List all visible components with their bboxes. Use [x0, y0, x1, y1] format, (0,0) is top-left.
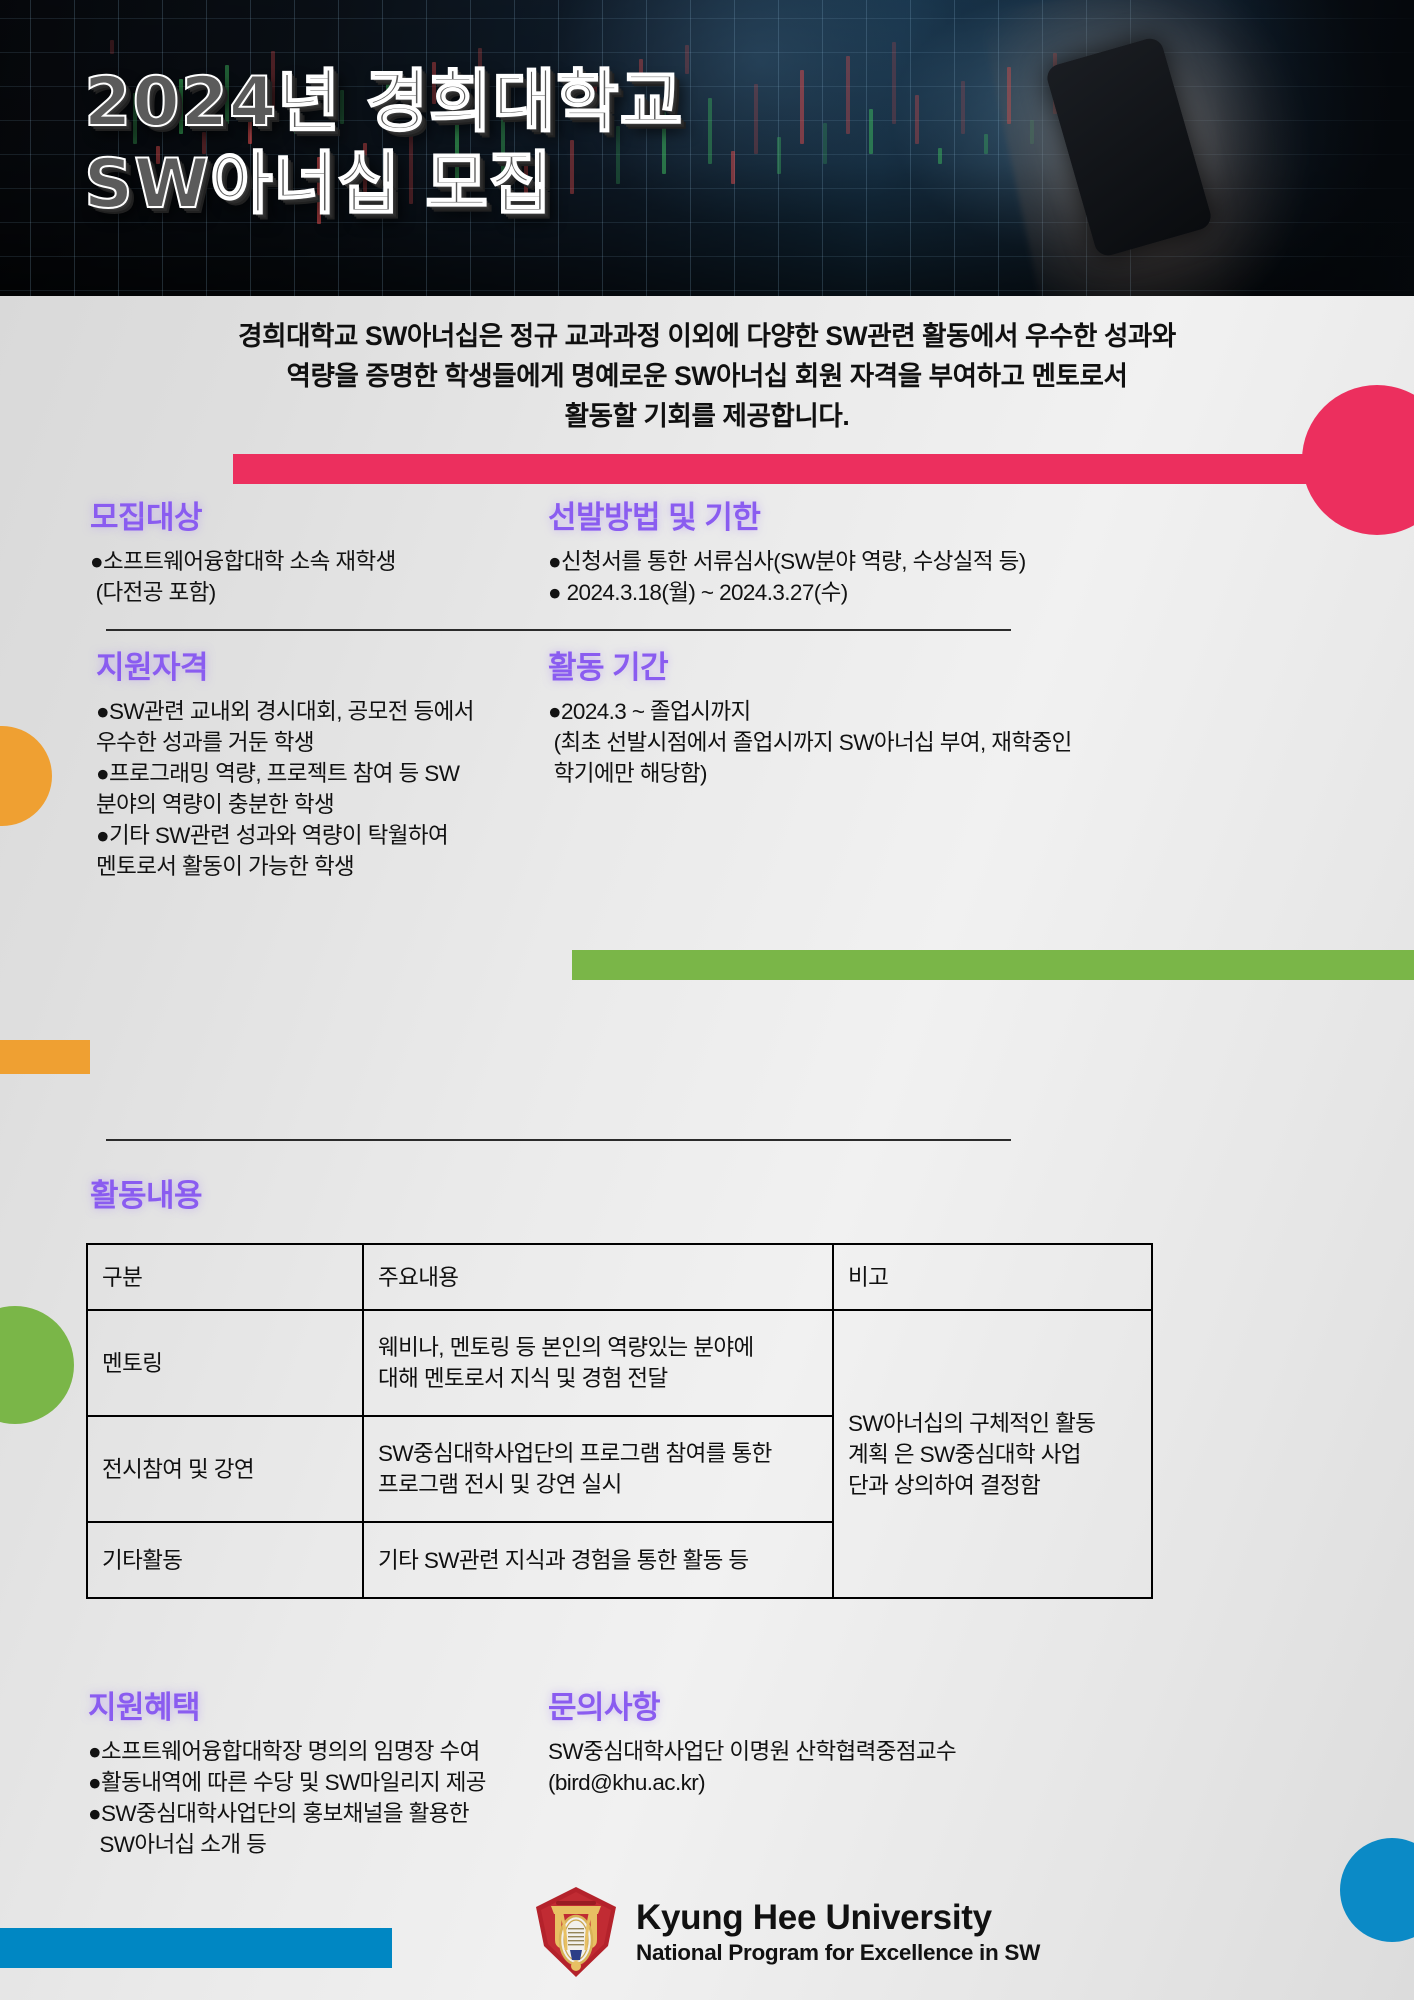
- decor-bar-green: [572, 950, 1414, 980]
- poster-title: 2024년 경희대학교 SW아너십 모집: [84, 62, 683, 226]
- logo-program-name: National Program for Excellence in SW: [636, 1942, 1040, 1965]
- list-item: 우수한 성과를 거둔 학생: [96, 727, 596, 758]
- grid-line-vertical: [866, 0, 867, 296]
- list-item: ●2024.3 ~ 졸업시까지: [548, 696, 1248, 727]
- table-cell-category: 멘토링: [87, 1310, 363, 1416]
- list-item: 학기에만 해당함): [548, 758, 1248, 789]
- candlestick-bar: [708, 98, 712, 164]
- list-item: (최초 선발시점에서 졸업시까지 SW아너십 부여, 재학중인: [548, 727, 1248, 758]
- candlestick-bar: [938, 148, 942, 164]
- table-header-cell: 비고: [833, 1244, 1152, 1310]
- divider-line-1: [106, 629, 1011, 631]
- list-item: 분야의 역량이 충분한 학생: [96, 789, 596, 820]
- list-item: ●소프트웨어융합대학 소속 재학생: [90, 546, 610, 577]
- poster-header: 2024년 경희대학교 SW아너십 모집: [0, 0, 1414, 296]
- candlestick-bar: [731, 151, 735, 184]
- table-cell-content: 웨비나, 멘토링 등 본인의 역량있는 분야에 대해 멘토로서 지식 및 경험 …: [363, 1310, 833, 1416]
- section-title-recruit-target: 모집대상: [90, 500, 610, 536]
- decor-circle-green: [0, 1306, 74, 1424]
- university-logo: Kyung Hee University National Program fo…: [532, 1884, 1040, 1980]
- intro-line-3: 활동할 기회를 제공합니다.: [0, 396, 1414, 436]
- activities-table: 구분 주요내용 비고 멘토링 웨비나, 멘토링 등 본인의 역량있는 분야에 대…: [86, 1243, 1153, 1599]
- grid-line-vertical: [690, 0, 691, 296]
- candlestick-bar: [685, 45, 689, 74]
- section-body-period: ●2024.3 ~ 졸업시까지 (최초 선발시점에서 졸업시까지 SW아너십 부…: [548, 696, 1248, 789]
- decor-circle-blue: [1340, 1838, 1414, 1942]
- header-right-vignette: [1214, 0, 1414, 296]
- intro-line-2: 역량을 증명한 학생들에게 명예로운 SW아너십 회원 자격을 부여하고 멘토로…: [0, 356, 1414, 396]
- section-body-benefits: ●소프트웨어융합대학장 명의의 임명장 수여 ●활동내역에 따른 수당 및 SW…: [88, 1736, 608, 1860]
- section-recruit-target: 모집대상 ●소프트웨어융합대학 소속 재학생 (다전공 포함): [90, 500, 610, 608]
- list-item: ●SW관련 교내외 경시대회, 공모전 등에서: [96, 696, 596, 727]
- list-item: ●SW중심대학사업단의 홍보채널을 활용한: [88, 1798, 608, 1829]
- list-item: SW아너십 소개 등: [88, 1829, 608, 1860]
- table-cell-remark: SW아너십의 구체적인 활동 계획 은 SW중심대학 사업 단과 상의하여 결정…: [833, 1310, 1152, 1598]
- table-cell-content: 기타 SW관련 지식과 경험을 통한 활동 등: [363, 1522, 833, 1598]
- intro-paragraph: 경희대학교 SW아너십은 정규 교과과정 이외에 다양한 SW관련 활동에서 우…: [0, 316, 1414, 436]
- section-activities: 활동내용: [90, 1178, 202, 1224]
- list-item: (다전공 포함): [90, 577, 610, 608]
- divider-line-2: [106, 1139, 1011, 1141]
- table-cell-content: SW중심대학사업단의 프로그램 참여를 통한 프로그램 전시 및 강연 실시: [363, 1416, 833, 1522]
- candlestick-bar: [846, 56, 850, 134]
- section-period: 활동 기간 ●2024.3 ~ 졸업시까지 (최초 선발시점에서 졸업시까지 S…: [548, 650, 1248, 789]
- list-item: ●소프트웨어융합대학장 명의의 임명장 수여: [88, 1736, 608, 1767]
- section-title-contact: 문의사항: [548, 1690, 1228, 1726]
- section-title-benefits: 지원혜택: [88, 1690, 608, 1726]
- section-title-period: 활동 기간: [548, 650, 1248, 686]
- decor-bar-blue: [0, 1928, 392, 1968]
- contact-email[interactable]: (bird@khu.ac.kr): [548, 1767, 1228, 1798]
- grid-line-vertical: [954, 0, 955, 296]
- list-item: ●프로그래밍 역량, 프로젝트 참여 등 SW: [96, 758, 596, 789]
- candlestick-bar: [777, 137, 781, 174]
- table-cell-category: 전시참여 및 강연: [87, 1416, 363, 1522]
- section-body-qualification: ●SW관련 교내외 경시대회, 공모전 등에서 우수한 성과를 거둔 학생 ●프…: [96, 696, 596, 882]
- candlestick-bar: [110, 40, 114, 54]
- section-title-qualification: 지원자격: [96, 650, 596, 686]
- table-cell-category: 기타활동: [87, 1522, 363, 1598]
- table-header-cell: 주요내용: [363, 1244, 833, 1310]
- candlestick-bar: [915, 95, 919, 144]
- section-title-selection: 선발방법 및 기한: [548, 500, 1228, 536]
- grid-line-vertical: [30, 0, 31, 296]
- section-body-contact: SW중심대학사업단 이명원 산학협력중점교수 (bird@khu.ac.kr): [548, 1736, 1228, 1798]
- decor-circle-orange: [0, 726, 52, 826]
- candlestick-bar: [823, 123, 827, 164]
- decor-bar-orange: [0, 1040, 90, 1074]
- list-item: ●활동내역에 따른 수당 및 SW마일리지 제공: [88, 1767, 608, 1798]
- grid-line-vertical: [74, 0, 75, 296]
- table-row: 멘토링 웨비나, 멘토링 등 본인의 역량있는 분야에 대해 멘토로서 지식 및…: [87, 1310, 1152, 1416]
- poster-root: 2024년 경희대학교 SW아너십 모집 경희대학교 SW아너십은 정규 교과과…: [0, 0, 1414, 2000]
- section-selection: 선발방법 및 기한 ●신청서를 통한 서류심사(SW분야 역량, 수상실적 등)…: [548, 500, 1228, 608]
- list-item: 멘토로서 활동이 가능한 학생: [96, 851, 596, 882]
- list-item: ●신청서를 통한 서류심사(SW분야 역량, 수상실적 등): [548, 546, 1228, 577]
- candlestick-bar: [869, 109, 873, 154]
- grid-line-vertical: [910, 0, 911, 296]
- candlestick-bar: [800, 70, 804, 144]
- section-contact: 문의사항 SW중심대학사업단 이명원 산학협력중점교수 (bird@khu.ac…: [548, 1690, 1228, 1798]
- candlestick-bar: [754, 84, 758, 154]
- kyung-hee-crest-icon: [532, 1884, 620, 1980]
- intro-line-1: 경희대학교 SW아너십은 정규 교과과정 이외에 다양한 SW관련 활동에서 우…: [0, 316, 1414, 356]
- title-line-1: 2024년 경희대학교: [84, 62, 683, 144]
- section-title-activities: 활동내용: [90, 1178, 202, 1214]
- candlestick-bar: [984, 134, 988, 154]
- decor-bar-pink: [233, 454, 1414, 484]
- list-item: ● 2024.3.18(월) ~ 2024.3.27(수): [548, 577, 1228, 608]
- candlestick-bar: [892, 42, 896, 124]
- contact-person: SW중심대학사업단 이명원 산학협력중점교수: [548, 1736, 1228, 1767]
- section-qualification: 지원자격 ●SW관련 교내외 경시대회, 공모전 등에서 우수한 성과를 거둔 …: [96, 650, 596, 882]
- section-body-recruit-target: ●소프트웨어융합대학 소속 재학생 (다전공 포함): [90, 546, 610, 608]
- list-item: ●기타 SW관련 성과와 역량이 탁월하여: [96, 820, 596, 851]
- logo-university-name: Kyung Hee University: [636, 1900, 1040, 1935]
- candlestick-bar: [961, 81, 965, 134]
- grid-line-vertical: [734, 0, 735, 296]
- activities-table-wrap: 구분 주요내용 비고 멘토링 웨비나, 멘토링 등 본인의 역량있는 분야에 대…: [86, 1243, 1061, 1599]
- table-header-row: 구분 주요내용 비고: [87, 1244, 1152, 1310]
- title-line-2: SW아너십 모집: [84, 144, 683, 226]
- section-benefits: 지원혜택 ●소프트웨어융합대학장 명의의 임명장 수여 ●활동내역에 따른 수당…: [88, 1690, 608, 1860]
- logo-text-block: Kyung Hee University National Program fo…: [636, 1900, 1040, 1965]
- section-body-selection: ●신청서를 통한 서류심사(SW분야 역량, 수상실적 등) ● 2024.3.…: [548, 546, 1228, 608]
- table-header-cell: 구분: [87, 1244, 363, 1310]
